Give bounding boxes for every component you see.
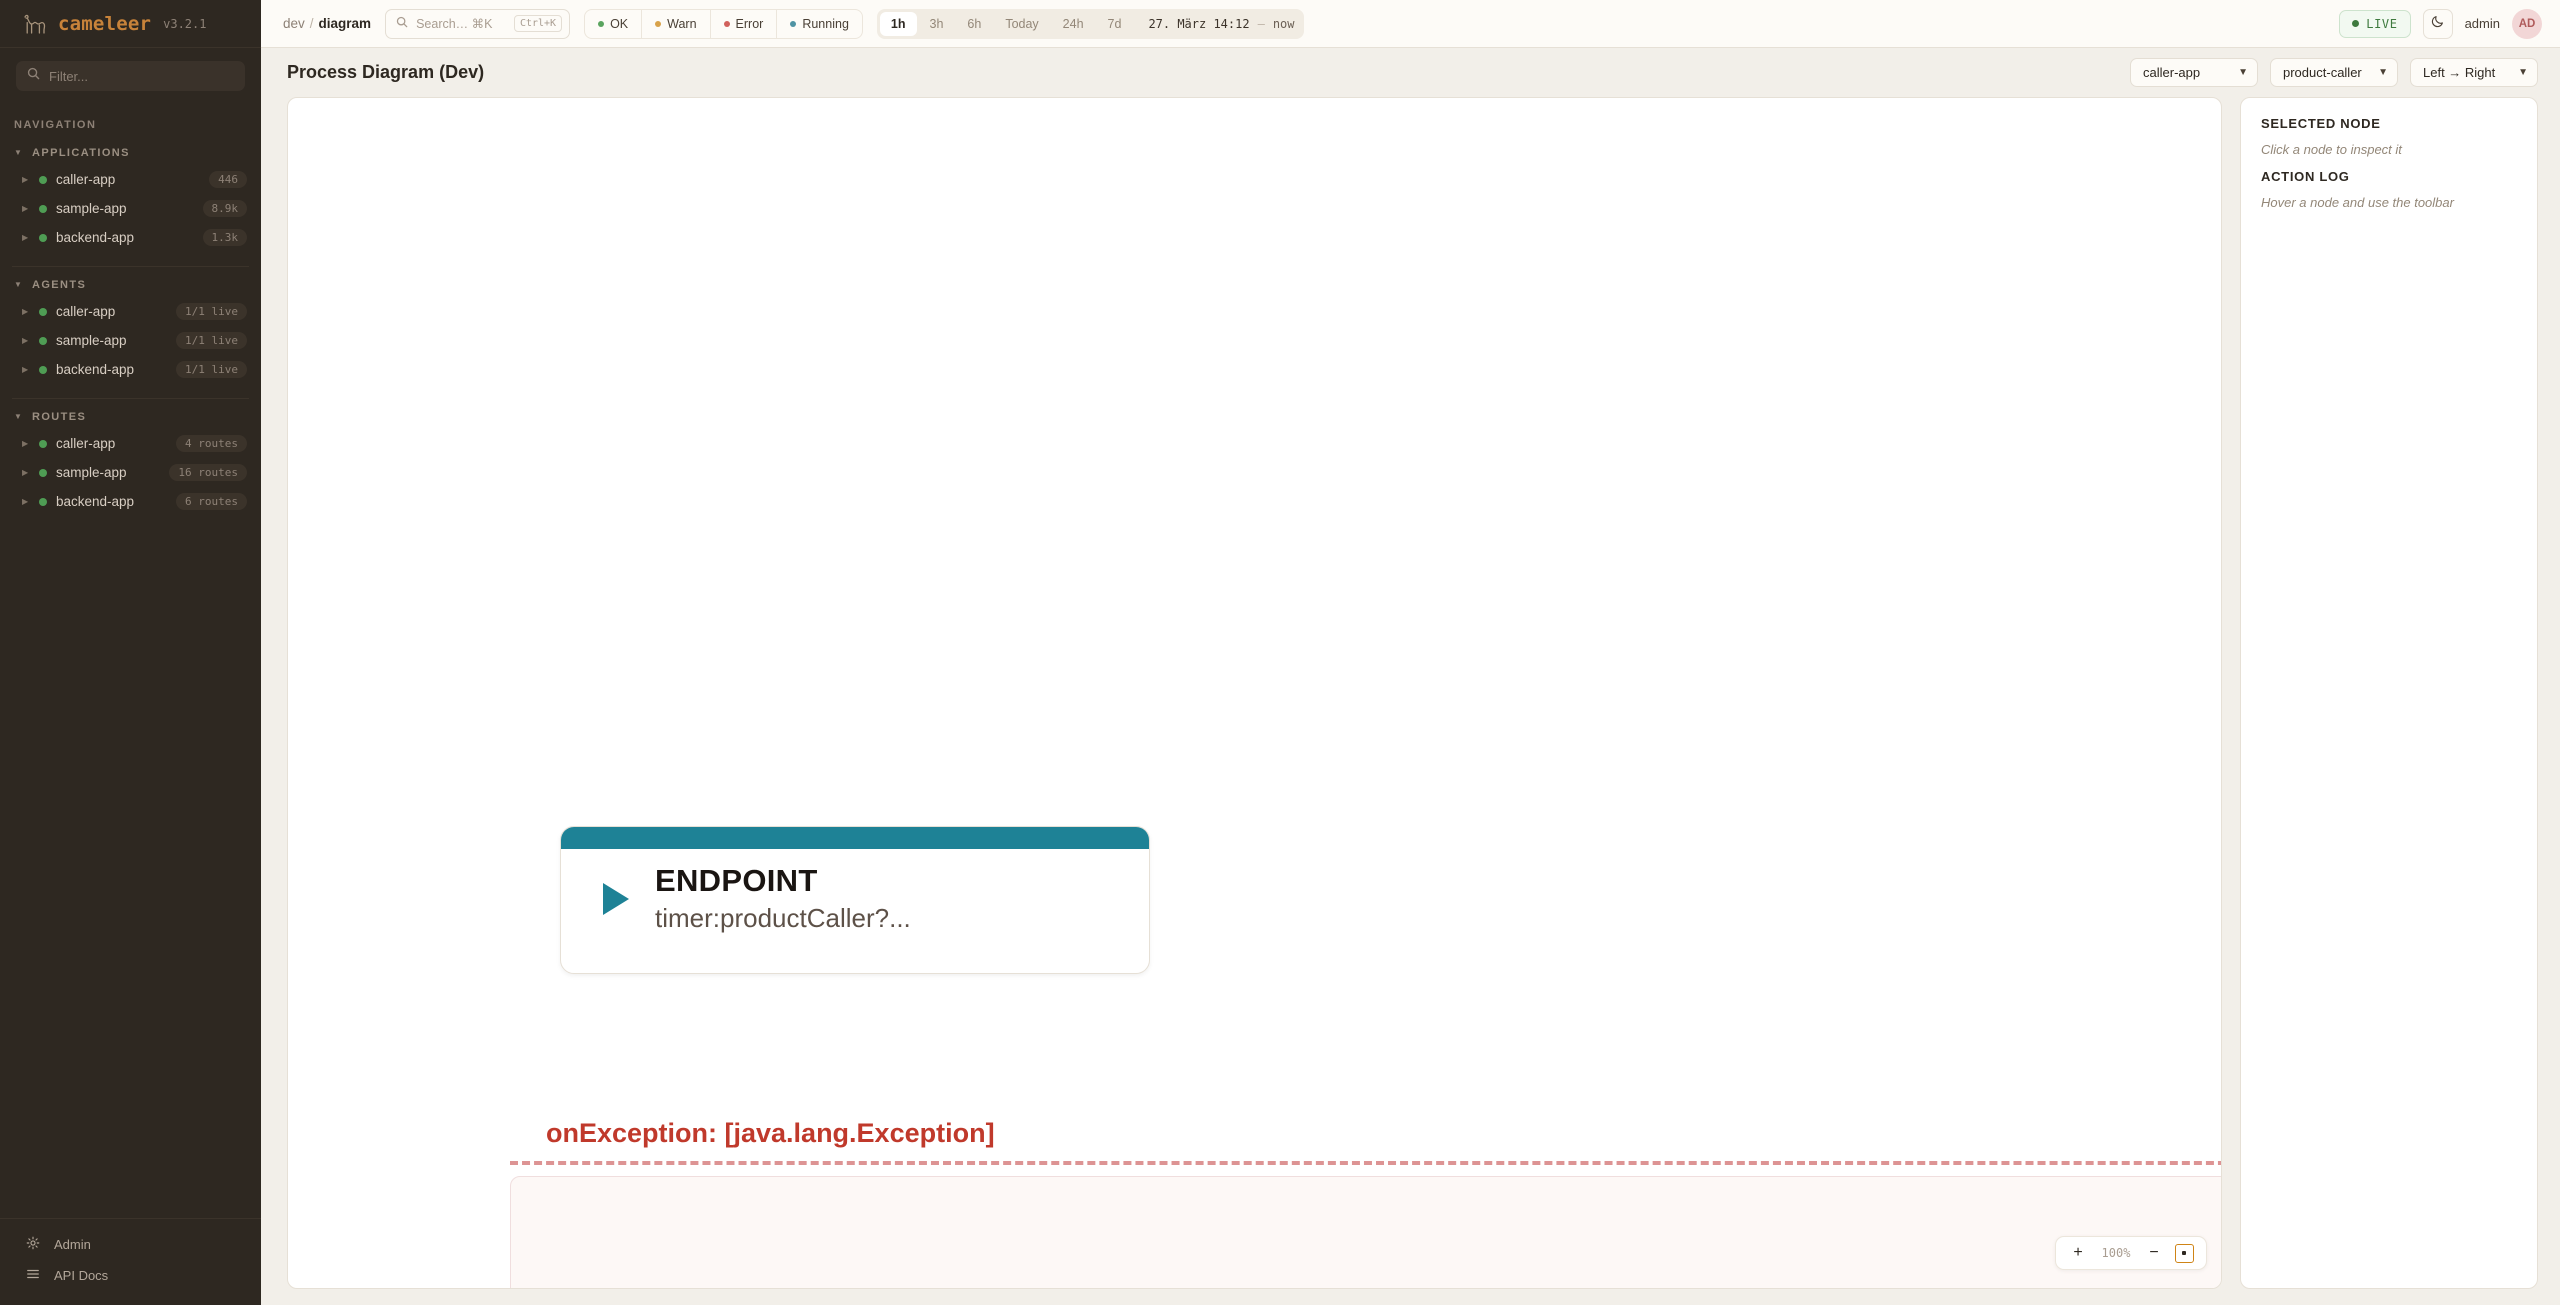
status-dot — [724, 21, 730, 27]
node-content: ENDPOINT timer:productCaller?... — [561, 849, 1149, 934]
nav-section-label: NAVIGATION — [0, 111, 261, 141]
breadcrumb-root[interactable]: dev — [283, 16, 305, 31]
status-filter-error[interactable]: Error — [711, 10, 778, 38]
sidebar-item-label: caller-app — [56, 172, 200, 187]
sidebar-divider — [12, 266, 249, 267]
brand-version: v3.2.1 — [163, 17, 206, 31]
status-filter-running[interactable]: Running — [777, 10, 862, 38]
sidebar-item-badge: 4 routes — [176, 435, 247, 452]
chevron-down-icon: ▼ — [2378, 68, 2388, 78]
play-triangle-icon — [603, 883, 629, 915]
sidebar-item-api-docs[interactable]: API Docs — [0, 1260, 261, 1291]
sidebar-item-label: caller-app — [56, 304, 167, 319]
sidebar-item-routes-caller-app[interactable]: ▶ caller-app 4 routes — [0, 429, 261, 458]
sidebar-item-agents-caller-app[interactable]: ▶ caller-app 1/1 live — [0, 297, 261, 326]
chevron-right-icon: ▶ — [22, 469, 30, 477]
sidebar-footer-label: Admin — [54, 1237, 91, 1252]
node-uri: timer:productCaller?... — [655, 903, 911, 934]
time-range-absolute[interactable]: 27. März 14:12 — now — [1134, 17, 1300, 31]
page-header: Process Diagram (Dev) caller-app ▼ produ… — [261, 48, 2560, 97]
sidebar-item-label: sample-app — [56, 465, 160, 480]
direction-select-value: Left → Right — [2423, 65, 2506, 80]
sidebar-item-applications-caller-app[interactable]: ▶ caller-app 446 — [0, 165, 261, 194]
sidebar-group-agents: ▼ AGENTS ▶ caller-app 1/1 live ▶ sample-… — [0, 273, 261, 392]
sidebar-item-admin[interactable]: Admin — [0, 1229, 261, 1260]
status-dot — [2352, 20, 2359, 27]
status-dot — [39, 176, 47, 184]
route-select-value: product-caller — [2283, 65, 2366, 80]
theme-toggle-button[interactable] — [2423, 9, 2453, 39]
time-range-24h[interactable]: 24h — [1052, 12, 1095, 36]
sidebar-item-badge: 16 routes — [169, 464, 247, 481]
main-area: dev/diagram Search… ⌘K Ctrl+K OK Warn — [261, 0, 2560, 1305]
status-filter-ok[interactable]: OK — [585, 10, 642, 38]
time-range-6h[interactable]: 6h — [956, 12, 992, 36]
user-name: admin — [2465, 16, 2500, 31]
breadcrumb-separator: / — [310, 16, 314, 31]
group-title: APPLICATIONS — [32, 147, 130, 159]
sidebar-item-agents-backend-app[interactable]: ▶ backend-app 1/1 live — [0, 355, 261, 384]
sidebar-filter[interactable] — [16, 61, 245, 91]
sidebar-item-badge: 8.9k — [203, 200, 248, 217]
status-dot — [790, 21, 796, 27]
sidebar-item-badge: 446 — [209, 171, 247, 188]
chevron-right-icon: ▶ — [22, 440, 30, 448]
search-box[interactable]: Search… ⌘K Ctrl+K — [385, 9, 570, 39]
sidebar-divider — [12, 398, 249, 399]
range-to: now — [1273, 17, 1295, 31]
sidebar-item-badge: 1/1 live — [176, 303, 247, 320]
group-title: AGENTS — [32, 279, 86, 291]
search-placeholder: Search… ⌘K — [416, 16, 506, 31]
sidebar-item-applications-sample-app[interactable]: ▶ sample-app 8.9k — [0, 194, 261, 223]
status-filter-label: OK — [610, 17, 628, 31]
sidebar-item-label: sample-app — [56, 201, 194, 216]
status-dot — [39, 469, 47, 477]
sidebar-item-label: backend-app — [56, 494, 167, 509]
node-type-label: ENDPOINT — [655, 863, 911, 899]
status-dot — [598, 21, 604, 27]
moon-icon — [2431, 14, 2445, 33]
application-select[interactable]: caller-app ▼ — [2130, 58, 2258, 87]
chevron-down-icon: ▼ — [2518, 68, 2528, 78]
status-dot — [39, 440, 47, 448]
status-dot — [655, 21, 661, 27]
action-log-hint: Hover a node and use the toolbar — [2261, 195, 2517, 210]
selected-node-hint: Click a node to inspect it — [2261, 142, 2517, 157]
diagram-canvas[interactable]: ENDPOINT timer:productCaller?... onExcep… — [287, 97, 2222, 1289]
content-body: ENDPOINT timer:productCaller?... onExcep… — [261, 97, 2560, 1305]
brand-name: cameleer — [58, 13, 151, 35]
sidebar-nav: NAVIGATION ▼ APPLICATIONS ▶ caller-app 4… — [0, 99, 261, 1218]
status-dot — [39, 234, 47, 242]
page-header-controls: caller-app ▼ product-caller ▼ Left → Rig… — [2130, 58, 2538, 87]
status-filter-warn[interactable]: Warn — [642, 10, 710, 38]
chevron-down-icon: ▼ — [14, 149, 23, 157]
node-text: ENDPOINT timer:productCaller?... — [655, 863, 911, 934]
time-range-7d[interactable]: 7d — [1097, 12, 1133, 36]
group-header-agents[interactable]: ▼ AGENTS — [0, 273, 261, 297]
fit-to-screen-button[interactable] — [2171, 1240, 2197, 1266]
range-separator: — — [1258, 17, 1265, 31]
chevron-down-icon: ▼ — [14, 413, 23, 421]
sidebar-item-routes-sample-app[interactable]: ▶ sample-app 16 routes — [0, 458, 261, 487]
sidebar-item-label: backend-app — [56, 230, 194, 245]
avatar[interactable]: AD — [2512, 9, 2542, 39]
zoom-out-button[interactable]: − — [2141, 1240, 2167, 1266]
gear-icon — [26, 1236, 40, 1253]
camel-icon — [22, 12, 48, 36]
sidebar-item-routes-backend-app[interactable]: ▶ backend-app 6 routes — [0, 487, 261, 516]
chevron-right-icon: ▶ — [22, 366, 30, 374]
exception-boundary-line — [510, 1161, 2222, 1165]
sidebar-item-badge: 1/1 live — [176, 361, 247, 378]
zoom-level: 100% — [2095, 1246, 2137, 1260]
route-select[interactable]: product-caller ▼ — [2270, 58, 2398, 87]
search-shortcut-kbd: Ctrl+K — [514, 15, 562, 32]
live-label: LIVE — [2366, 17, 2397, 31]
breadcrumb[interactable]: dev/diagram — [283, 16, 371, 31]
page-title: Process Diagram (Dev) — [287, 62, 484, 83]
chevron-right-icon: ▶ — [22, 176, 30, 184]
action-log-heading: ACTION LOG — [2261, 169, 2517, 184]
breadcrumb-current: diagram — [319, 16, 372, 31]
exception-handler-zone: TRACE — [510, 1176, 2222, 1289]
chevron-right-icon: ▶ — [22, 308, 30, 316]
sidebar-footer-label: API Docs — [54, 1268, 108, 1283]
time-range-1h[interactable]: 1h — [880, 12, 917, 36]
chevron-down-icon: ▼ — [2238, 68, 2248, 78]
status-filter-label: Running — [802, 17, 849, 31]
sidebar-item-label: caller-app — [56, 436, 167, 451]
fit-to-screen-icon — [2175, 1244, 2194, 1263]
top-bar: dev/diagram Search… ⌘K Ctrl+K OK Warn — [261, 0, 2560, 48]
zoom-in-button[interactable]: + — [2065, 1240, 2091, 1266]
chevron-right-icon: ▶ — [22, 337, 30, 345]
chevron-down-icon: ▼ — [14, 281, 23, 289]
sidebar-footer: Admin API Docs — [0, 1218, 261, 1305]
search-icon — [27, 67, 40, 85]
live-toggle[interactable]: LIVE — [2339, 10, 2410, 38]
chevron-right-icon: ▶ — [22, 234, 30, 242]
status-dot — [39, 366, 47, 374]
status-filter-label: Warn — [667, 17, 696, 31]
application-select-value: caller-app — [2143, 65, 2226, 80]
time-range-3h[interactable]: 3h — [919, 12, 955, 36]
chevron-right-icon: ▶ — [22, 205, 30, 213]
menu-icon — [26, 1267, 40, 1284]
time-range-today[interactable]: Today — [994, 12, 1049, 36]
chevron-right-icon: ▶ — [22, 498, 30, 506]
exception-handler-label: onException: [java.lang.Exception] — [546, 1118, 995, 1149]
sidebar-item-badge: 6 routes — [176, 493, 247, 510]
sidebar-group-routes: ▼ ROUTES ▶ caller-app 4 routes ▶ sample-… — [0, 405, 261, 524]
sidebar-item-label: backend-app — [56, 362, 167, 377]
status-dot — [39, 205, 47, 213]
selected-node-heading: SELECTED NODE — [2261, 116, 2517, 131]
sidebar-filter-wrap — [0, 48, 261, 99]
group-title: ROUTES — [32, 411, 86, 423]
sidebar-group-applications: ▼ APPLICATIONS ▶ caller-app 446 ▶ sample… — [0, 141, 261, 260]
group-header-routes[interactable]: ▼ ROUTES — [0, 405, 261, 429]
sidebar-item-badge: 1/1 live — [176, 332, 247, 349]
sidebar: cameleer v3.2.1 NAVIGATION ▼ APPLICATION… — [0, 0, 261, 1305]
filter-input[interactable] — [49, 69, 234, 84]
time-range-group: 1h 3h 6h Today 24h 7d 27. März 14:12 — n… — [877, 9, 1304, 39]
status-filter-group: OK Warn Error Running — [584, 9, 863, 39]
diagram-node-endpoint[interactable]: ENDPOINT timer:productCaller?... — [560, 826, 1150, 974]
direction-select[interactable]: Left → Right ▼ — [2410, 58, 2538, 87]
sidebar-item-applications-backend-app[interactable]: ▶ backend-app 1.3k — [0, 223, 261, 252]
sidebar-item-badge: 1.3k — [203, 229, 248, 246]
status-dot — [39, 337, 47, 345]
top-bar-right: LIVE admin AD — [2339, 9, 2542, 39]
sidebar-item-agents-sample-app[interactable]: ▶ sample-app 1/1 live — [0, 326, 261, 355]
brand-header[interactable]: cameleer v3.2.1 — [0, 0, 261, 48]
group-header-applications[interactable]: ▼ APPLICATIONS — [0, 141, 261, 165]
status-dot — [39, 498, 47, 506]
inspector-panel: SELECTED NODE Click a node to inspect it… — [2240, 97, 2538, 1289]
node-accent-bar — [561, 827, 1149, 849]
status-filter-label: Error — [736, 17, 764, 31]
range-from: 27. März 14:12 — [1148, 17, 1249, 31]
sidebar-item-label: sample-app — [56, 333, 167, 348]
zoom-control: + 100% − — [2055, 1236, 2207, 1270]
status-dot — [39, 308, 47, 316]
search-icon — [396, 15, 408, 33]
